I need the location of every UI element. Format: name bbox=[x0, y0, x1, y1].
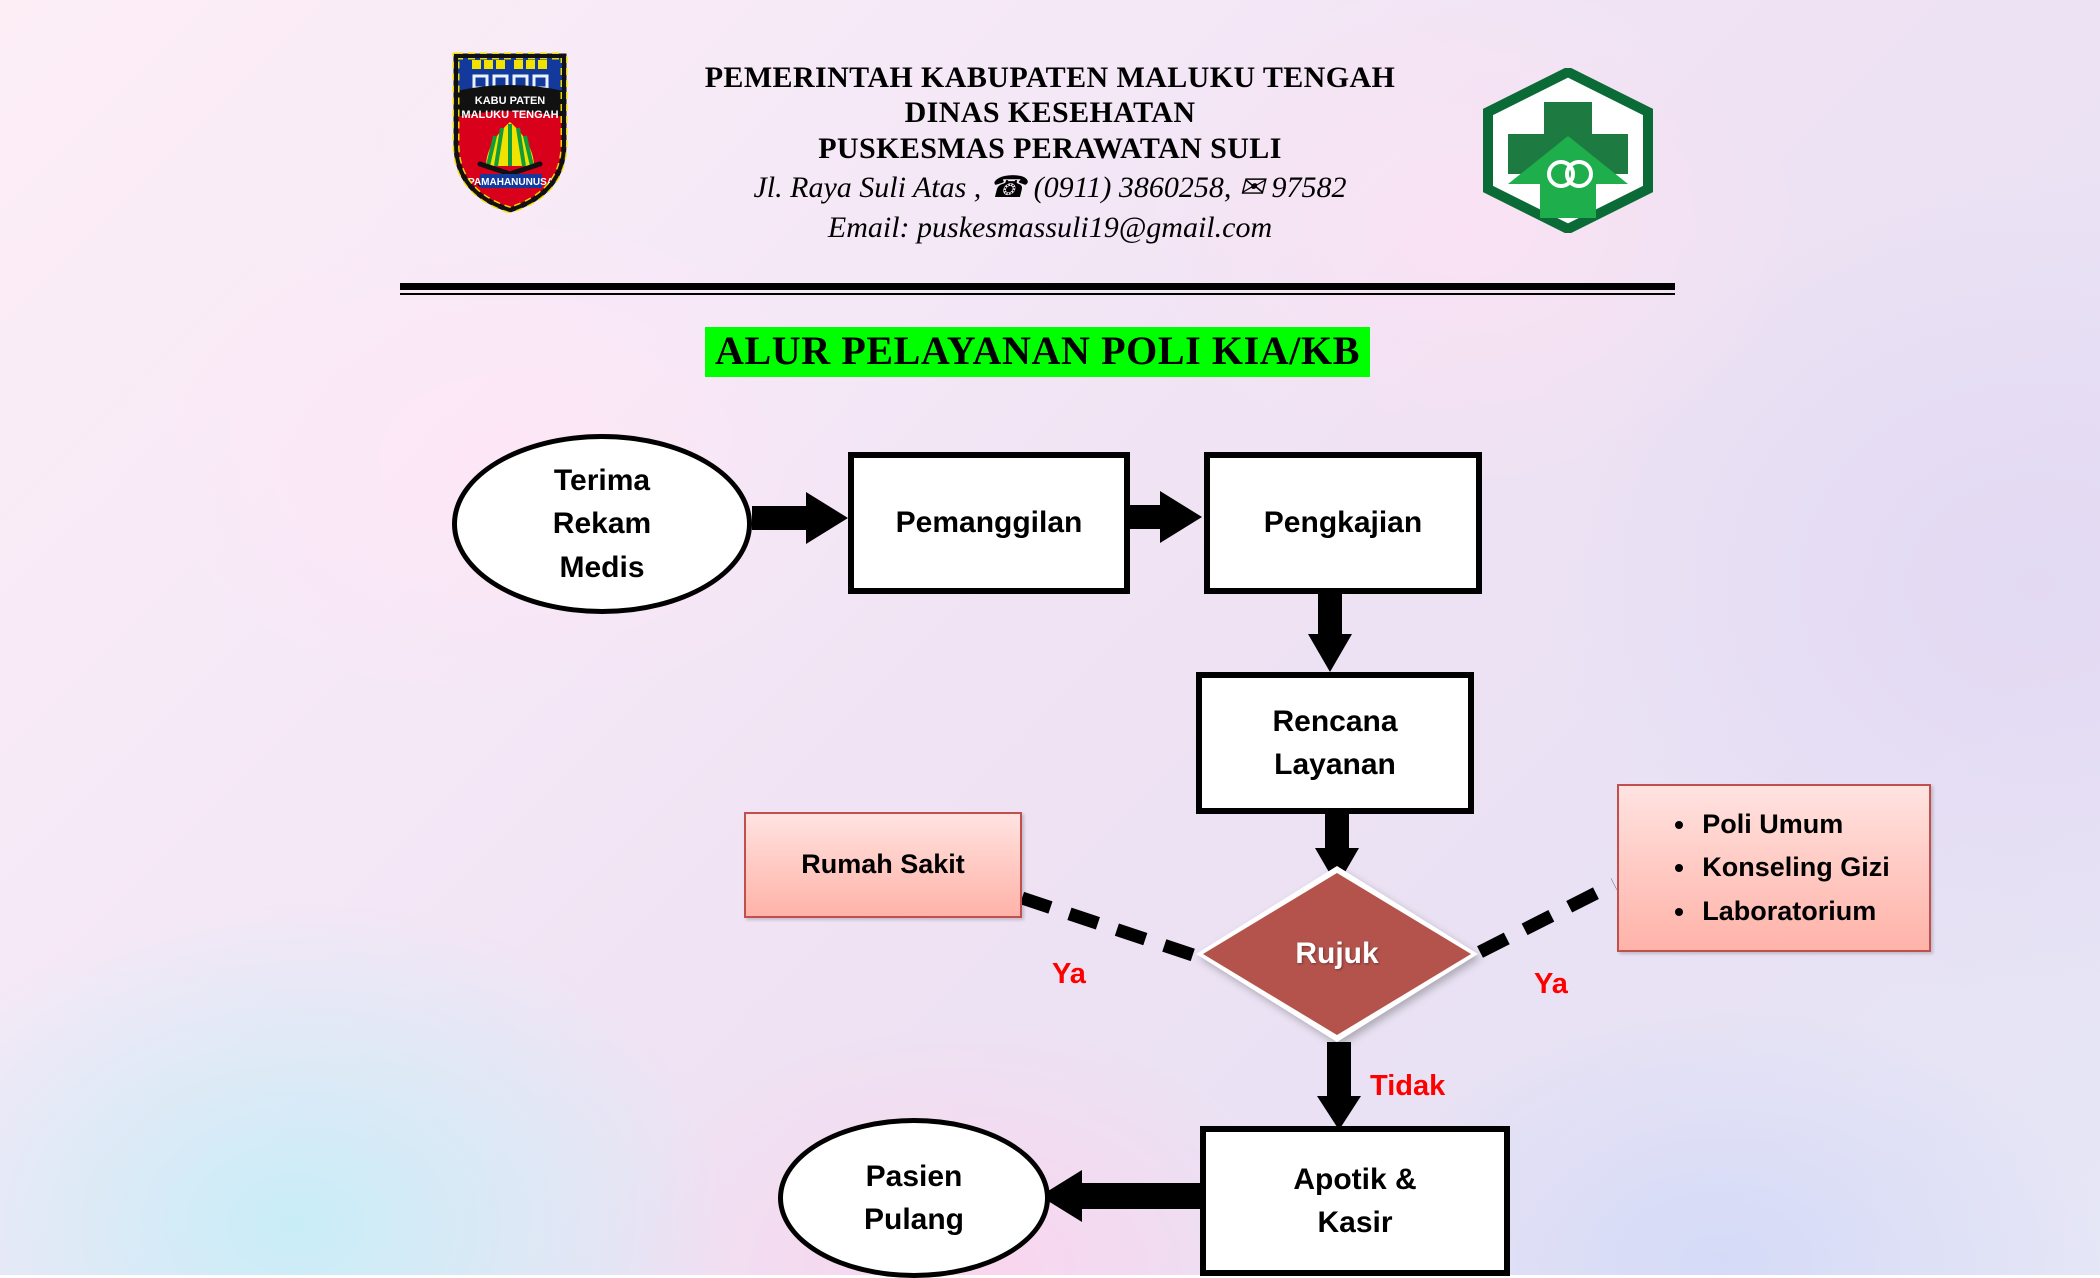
node-apotik-kasir-label: Apotik & Kasir bbox=[1293, 1158, 1416, 1245]
node-apotik-kasir[interactable]: Apotik & Kasir bbox=[1200, 1126, 1510, 1276]
node-referral-options-list[interactable]: Poli Umum Konseling Gizi Laboratorium bbox=[1617, 784, 1931, 952]
poster-canvas: KABU PATEN MALUKU TENGAH PAMAHANUNUSA bbox=[0, 0, 2100, 1275]
node-pengkajian-label: Pengkajian bbox=[1264, 501, 1422, 545]
edge-label-tidak: Tidak bbox=[1370, 1070, 1445, 1103]
node-rujuk-decision[interactable]: Rujuk bbox=[1196, 866, 1478, 1042]
node-rumah-sakit-label: Rumah Sakit bbox=[801, 845, 965, 884]
referral-options-ul: Poli Umum Konseling Gizi Laboratorium bbox=[1658, 803, 1890, 933]
node-rumah-sakit[interactable]: Rumah Sakit bbox=[744, 812, 1022, 918]
list-item: Konseling Gizi bbox=[1698, 846, 1890, 889]
node-pemanggilan[interactable]: Pemanggilan bbox=[848, 452, 1130, 594]
node-pemanggilan-label: Pemanggilan bbox=[896, 501, 1083, 545]
edge-label-ya-right: Ya bbox=[1534, 968, 1568, 1001]
list-item: Poli Umum bbox=[1698, 803, 1890, 846]
arrow-terima-to-pemanggilan bbox=[752, 492, 848, 544]
flow-connectors bbox=[0, 0, 2100, 1275]
node-pasien-pulang-label: Pasien Pulang bbox=[864, 1155, 964, 1242]
arrow-apotik-to-pasien-pulang bbox=[1040, 1170, 1200, 1222]
arrow-pemanggilan-to-pengkajian bbox=[1124, 491, 1202, 543]
arrow-pengkajian-to-rencana bbox=[1308, 588, 1352, 672]
node-rujuk-label: Rujuk bbox=[1196, 866, 1478, 1042]
node-pasien-pulang[interactable]: Pasien Pulang bbox=[778, 1118, 1050, 1278]
node-terima-rekam-medis-label: Terima Rekam Medis bbox=[553, 459, 651, 590]
dashed-rujuk-to-rumah-sakit bbox=[1022, 898, 1196, 956]
node-rencana-layanan[interactable]: Rencana Layanan bbox=[1196, 672, 1474, 814]
arrow-rujuk-to-apotik bbox=[1317, 1042, 1361, 1130]
node-pengkajian[interactable]: Pengkajian bbox=[1204, 452, 1482, 594]
list-item: Laboratorium bbox=[1698, 890, 1890, 933]
node-rencana-layanan-label: Rencana Layanan bbox=[1272, 700, 1397, 787]
dashed-rujuk-to-referral-list bbox=[1480, 884, 1614, 952]
node-terima-rekam-medis[interactable]: Terima Rekam Medis bbox=[452, 434, 752, 614]
edge-label-ya-left: Ya bbox=[1052, 958, 1086, 991]
